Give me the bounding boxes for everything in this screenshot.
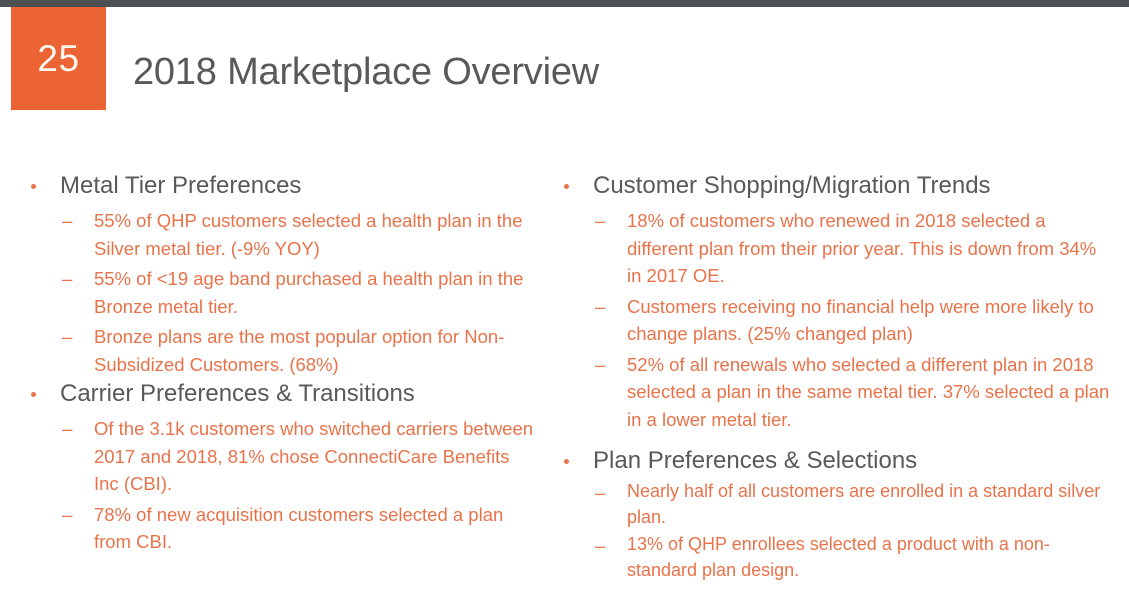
list-item: Of the 3.1k customers who switched carri… — [22, 415, 537, 498]
dash-bullet-icon — [62, 323, 76, 351]
content-columns: Metal Tier Preferences 55% of QHP custom… — [0, 170, 1129, 615]
bullet-dot-icon — [31, 392, 36, 397]
list-item-text: 78% of new acquisition customers selecte… — [94, 504, 503, 553]
list-item-text: 52% of all renewals who selected a diffe… — [627, 354, 1109, 430]
list-item: 55% of QHP customers selected a health p… — [22, 207, 537, 262]
list-item: 55% of <19 age band purchased a health p… — [22, 265, 537, 320]
slide-number-text: 25 — [37, 40, 79, 77]
list-item: 13% of QHP enrollees selected a product … — [555, 532, 1115, 583]
dash-bullet-icon — [595, 532, 609, 560]
bullet-dot-icon — [564, 459, 569, 464]
section-heading: Plan Preferences & Selections — [555, 445, 1115, 477]
right-column: Customer Shopping/Migration Trends 18% o… — [555, 170, 1115, 583]
list-item: Bronze plans are the most popular option… — [22, 323, 537, 378]
list-item-text: Of the 3.1k customers who switched carri… — [94, 418, 533, 494]
list-item-text: Customers receiving no financial help we… — [627, 296, 1094, 345]
dash-bullet-icon — [595, 351, 609, 379]
dash-bullet-icon — [62, 501, 76, 529]
list-item-text: Nearly half of all customers are enrolle… — [627, 481, 1100, 527]
list-item: 78% of new acquisition customers selecte… — [22, 501, 537, 556]
dash-bullet-icon — [595, 479, 609, 507]
top-accent-bar — [0, 0, 1129, 7]
section-heading-text: Plan Preferences & Selections — [593, 447, 917, 474]
dash-bullet-icon — [595, 207, 609, 235]
bullet-dot-icon — [564, 184, 569, 189]
list-item-text: Bronze plans are the most popular option… — [94, 326, 504, 375]
list-item: Customers receiving no financial help we… — [555, 293, 1115, 348]
bullet-dot-icon — [31, 184, 36, 189]
list-item-text: 13% of QHP enrollees selected a product … — [627, 534, 1050, 580]
list-item: 52% of all renewals who selected a diffe… — [555, 351, 1115, 434]
section-metal-tier-preferences: Metal Tier Preferences 55% of QHP custom… — [22, 170, 537, 378]
section-heading: Customer Shopping/Migration Trends — [555, 170, 1115, 202]
section-heading: Metal Tier Preferences — [22, 170, 537, 202]
dash-bullet-icon — [595, 293, 609, 321]
section-heading-text: Metal Tier Preferences — [60, 172, 301, 199]
section-customer-shopping-migration-trends: Customer Shopping/Migration Trends 18% o… — [555, 170, 1115, 433]
left-column: Metal Tier Preferences 55% of QHP custom… — [22, 170, 537, 556]
list-item: 18% of customers who renewed in 2018 sel… — [555, 207, 1115, 290]
list-item-text: 55% of <19 age band purchased a health p… — [94, 268, 523, 317]
section-heading-text: Customer Shopping/Migration Trends — [593, 172, 991, 199]
list-item-text: 55% of QHP customers selected a health p… — [94, 210, 523, 259]
dash-bullet-icon — [62, 415, 76, 443]
section-plan-preferences-selections: Plan Preferences & Selections Nearly hal… — [555, 445, 1115, 583]
slide-number-badge: 25 — [11, 7, 106, 110]
slide: 25 2018 Marketplace Overview Metal Tier … — [0, 0, 1129, 615]
page-title: 2018 Marketplace Overview — [133, 48, 599, 96]
list-item: Nearly half of all customers are enrolle… — [555, 479, 1115, 530]
list-item-text: 18% of customers who renewed in 2018 sel… — [627, 210, 1096, 286]
section-heading-text: Carrier Preferences & Transitions — [60, 380, 415, 407]
section-heading: Carrier Preferences & Transitions — [22, 378, 537, 410]
section-carrier-preferences-transitions: Carrier Preferences & Transitions Of the… — [22, 378, 537, 556]
dash-bullet-icon — [62, 207, 76, 235]
dash-bullet-icon — [62, 265, 76, 293]
